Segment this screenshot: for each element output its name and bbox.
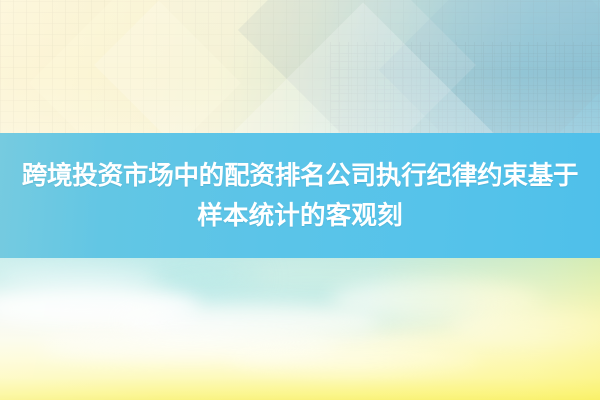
sky-warm-overlay xyxy=(0,258,600,400)
top-decorative-section xyxy=(0,0,600,134)
sky-gradient-section xyxy=(0,258,600,400)
headline-line-1: 跨境投资市场中的配资排名公司执行纪律约束基于 xyxy=(2,156,598,196)
headline-text: 跨境投资市场中的配资排名公司执行纪律约束基于 样本统计的客观刻 xyxy=(2,156,598,236)
top-sheen-overlay xyxy=(0,0,600,134)
promotional-banner: 跨境投资市场中的配资排名公司执行纪律约束基于 样本统计的客观刻 xyxy=(0,0,600,400)
headline-band: 跨境投资市场中的配资排名公司执行纪律约束基于 样本统计的客观刻 xyxy=(0,133,600,258)
headline-line-2: 样本统计的客观刻 xyxy=(2,196,598,236)
